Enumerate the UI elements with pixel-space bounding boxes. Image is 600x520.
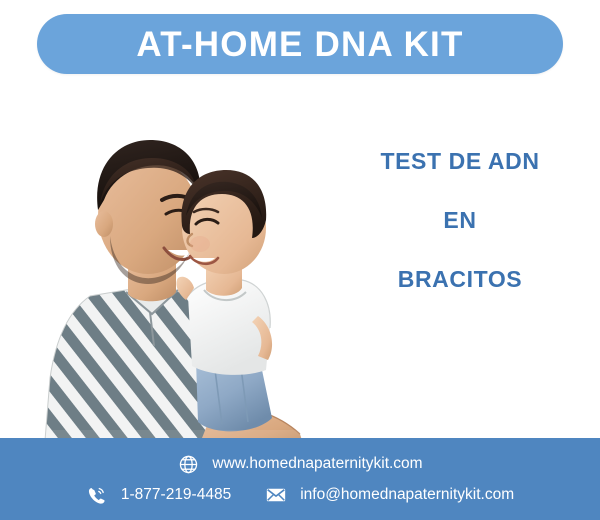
headline-line-1: TEST DE ADN	[330, 150, 590, 173]
envelope-icon	[265, 484, 287, 506]
father-and-child-photo	[0, 78, 330, 453]
phone-icon	[86, 484, 108, 506]
footer-phone[interactable]: 1-877-219-4485	[86, 484, 231, 506]
headline-line-3: BRACITOS	[330, 268, 590, 291]
header-banner: AT-HOME DNA KIT	[37, 14, 563, 74]
headline-block: TEST DE ADN EN BRACITOS	[330, 150, 590, 291]
hero-photo	[0, 78, 330, 453]
footer-email[interactable]: info@homednapaternitykit.com	[265, 484, 514, 506]
page-title: AT-HOME DNA KIT	[136, 27, 463, 62]
footer-contact-bar: www.homednapaternitykit.com 1-877-219-44…	[0, 438, 600, 520]
globe-icon	[177, 453, 199, 475]
footer-website[interactable]: www.homednapaternitykit.com	[177, 453, 422, 475]
phone-label: 1-877-219-4485	[121, 486, 231, 504]
poster-canvas: AT-HOME DNA KIT	[0, 0, 600, 520]
footer-row-website: www.homednapaternitykit.com	[0, 453, 600, 475]
footer-row-phone-email: 1-877-219-4485 info@homednapaternitykit.…	[0, 484, 600, 506]
email-label: info@homednapaternitykit.com	[300, 486, 514, 504]
website-label: www.homednapaternitykit.com	[212, 455, 422, 473]
headline-line-2: EN	[330, 209, 590, 232]
